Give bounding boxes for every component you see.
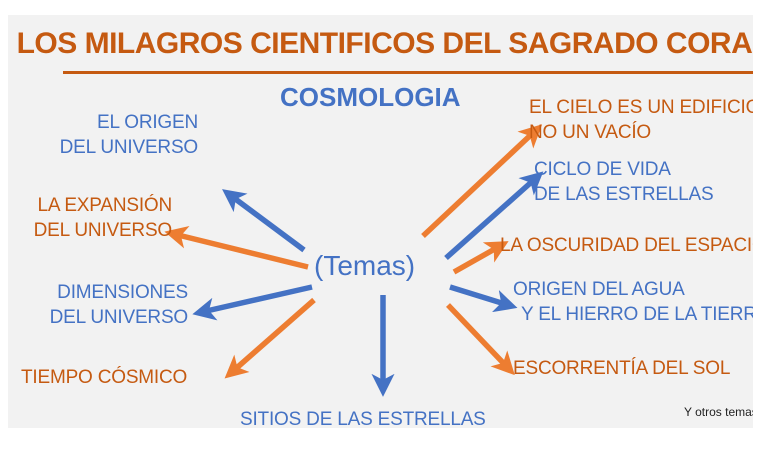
node-escorrentia-sol[interactable]: ESCORRENTÍA DEL SOL: [513, 356, 730, 381]
node-line: Y EL HIERRO DE LA TIERRA: [513, 302, 753, 327]
node-line: DEL UNIVERSO: [8, 305, 188, 330]
node-sitios-estrellas[interactable]: SITIOS DE LAS ESTRELLAS: [240, 407, 486, 428]
arrow-dimensiones: [202, 287, 312, 312]
page-title: LOS MILAGROS CIENTIFICOS DEL SAGRADO COR…: [8, 27, 753, 61]
title-divider: [63, 71, 753, 74]
node-line: LA OSCURIDAD DEL ESPACIO: [500, 233, 753, 258]
arrow-oscuridad-espacio: [454, 246, 500, 272]
node-line: ESCORRENTÍA DEL SOL: [513, 356, 730, 381]
arrow-escorrentia-sol: [448, 305, 508, 368]
node-line: DIMENSIONES: [8, 280, 188, 305]
node-cielo-edificio[interactable]: EL CIELO ES UN EDIFICIO NO UN VACÍO: [529, 95, 753, 145]
node-origen-agua-hierro[interactable]: ORIGEN DEL AGUA Y EL HIERRO DE LA TIERRA: [513, 277, 753, 327]
hub-node-temas[interactable]: (Temas): [314, 250, 415, 282]
node-line: TIEMPO CÓSMICO: [21, 365, 187, 390]
node-line: EL CIELO ES UN EDIFICIO: [529, 95, 753, 120]
node-line: DEL UNIVERSO: [8, 218, 172, 243]
arrow-origen-universo: [230, 195, 304, 250]
node-line: DEL UNIVERSO: [8, 135, 198, 160]
node-ciclo-vida-estrellas[interactable]: CICLO DE VIDA DE LAS ESTRELLAS: [534, 157, 714, 207]
node-dimensiones-universo[interactable]: DIMENSIONES DEL UNIVERSO: [8, 280, 188, 330]
footnote: Y otros temas: [684, 405, 753, 419]
node-line: NO UN VACÍO: [529, 120, 753, 145]
node-expansion-universo[interactable]: LA EXPANSIÓN DEL UNIVERSO: [8, 193, 172, 243]
node-line: EL ORIGEN: [8, 110, 198, 135]
slide-canvas: LOS MILAGROS CIENTIFICOS DEL SAGRADO COR…: [8, 15, 753, 428]
node-line: LA EXPANSIÓN: [8, 193, 172, 218]
node-line: SITIOS DE LAS ESTRELLAS: [240, 407, 486, 428]
node-line: CICLO DE VIDA: [534, 157, 714, 182]
subtitle: COSMOLOGIA: [280, 82, 461, 113]
node-line: ORIGEN DEL AGUA: [513, 277, 753, 302]
node-oscuridad-espacio[interactable]: LA OSCURIDAD DEL ESPACIO: [500, 233, 753, 258]
node-line: DE LAS ESTRELLAS: [534, 182, 714, 207]
arrow-tiempo-cosmico: [232, 300, 314, 372]
node-tiempo-cosmico[interactable]: TIEMPO CÓSMICO: [21, 365, 187, 390]
node-origen-universo[interactable]: EL ORIGEN DEL UNIVERSO: [8, 110, 198, 160]
arrow-cielo-edificio: [423, 131, 535, 236]
arrow-origen-agua: [450, 287, 508, 305]
